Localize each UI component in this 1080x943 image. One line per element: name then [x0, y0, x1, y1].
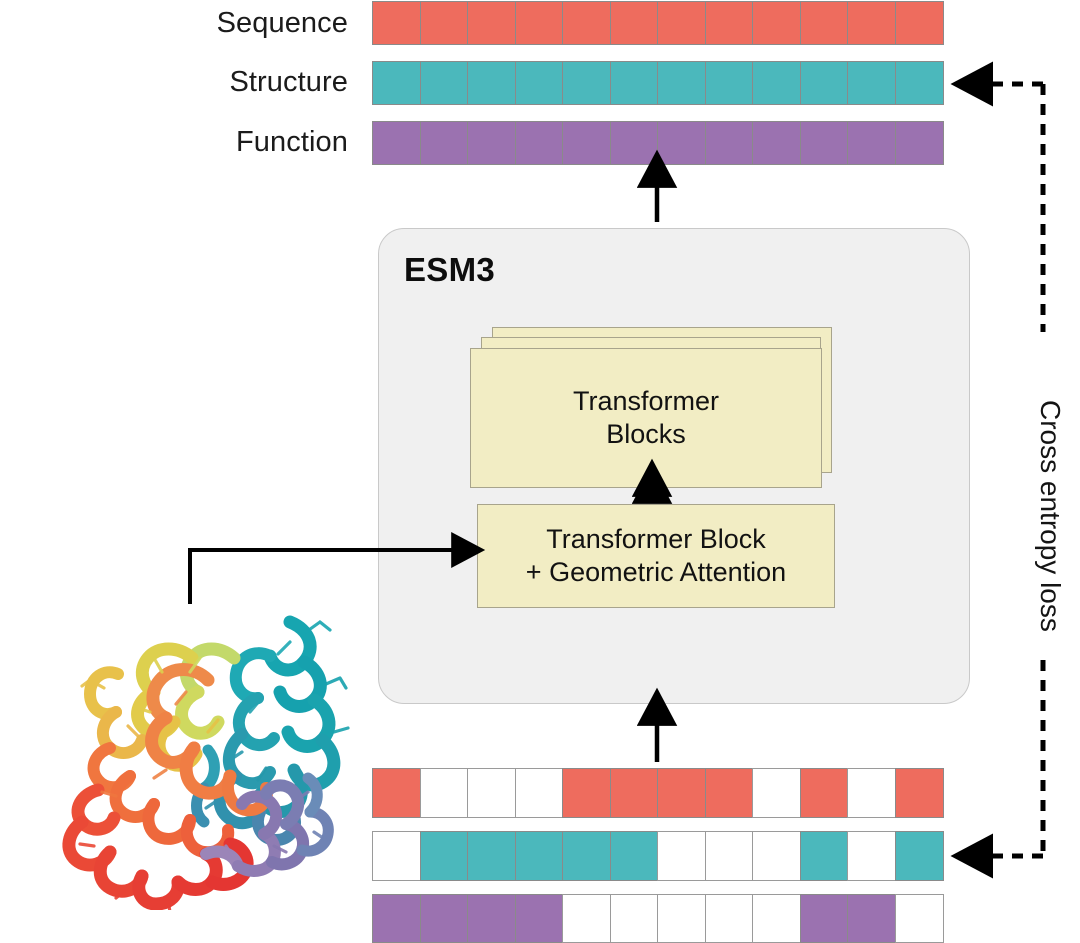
- output-token-function-cell-6: [657, 121, 706, 165]
- input-token-structure-cell-3: [515, 831, 564, 881]
- input-token-sequence-cell-2: [467, 768, 516, 818]
- output-track-sequence: [372, 1, 944, 45]
- output-token-sequence-cell-8: [752, 1, 801, 45]
- output-label-function: Function: [236, 128, 348, 157]
- output-token-structure-cell-3: [515, 61, 564, 105]
- output-label-structure-wrap: Structure: [0, 59, 348, 105]
- input-token-structure-cell-5: [610, 831, 659, 881]
- geometric-attention-label: Transformer Block + Geometric Attention: [478, 523, 834, 589]
- output-token-function-cell-5: [610, 121, 659, 165]
- output-track-structure: [372, 61, 944, 105]
- output-label-structure: Structure: [229, 68, 348, 97]
- output-token-structure-cell-4: [562, 61, 611, 105]
- input-token-structure-cell-7: [705, 831, 754, 881]
- output-token-function-cell-4: [562, 121, 611, 165]
- esm3-title: ESM3: [404, 251, 495, 289]
- output-token-sequence-cell-10: [847, 1, 896, 45]
- output-token-sequence-cell-2: [467, 1, 516, 45]
- output-token-sequence-cell-0: [372, 1, 421, 45]
- output-token-function-cell-11: [895, 121, 944, 165]
- output-token-structure-cell-6: [657, 61, 706, 105]
- output-label-function-wrap: Function: [0, 119, 348, 165]
- output-token-structure-cell-1: [420, 61, 469, 105]
- input-track-structure: [372, 831, 944, 881]
- input-token-structure-cell-0: [372, 831, 421, 881]
- transformer-blocks-line2: Blocks: [471, 418, 821, 451]
- output-token-structure-cell-7: [705, 61, 754, 105]
- output-token-function-cell-10: [847, 121, 896, 165]
- output-token-function-cell-9: [800, 121, 849, 165]
- output-track-function: [372, 121, 944, 165]
- output-token-function-cell-1: [420, 121, 469, 165]
- cross-entropy-loss-label: Cross entropy loss: [1036, 400, 1064, 700]
- output-token-sequence-cell-6: [657, 1, 706, 45]
- input-token-function-cell-4: [562, 894, 611, 943]
- geometric-attention-line1: Transformer Block: [478, 523, 834, 556]
- input-token-function-cell-10: [847, 894, 896, 943]
- input-token-function-cell-1: [420, 894, 469, 943]
- output-token-structure-cell-10: [847, 61, 896, 105]
- output-token-sequence-cell-7: [705, 1, 754, 45]
- output-token-function-cell-0: [372, 121, 421, 165]
- input-token-function-cell-0: [372, 894, 421, 943]
- input-token-function-cell-9: [800, 894, 849, 943]
- input-token-function-cell-11: [895, 894, 944, 943]
- output-token-structure-cell-11: [895, 61, 944, 105]
- input-token-sequence-cell-7: [705, 768, 754, 818]
- output-label-sequence: Sequence: [217, 9, 348, 38]
- input-token-sequence-cell-3: [515, 768, 564, 818]
- input-token-sequence-cell-1: [420, 768, 469, 818]
- input-token-structure-cell-9: [800, 831, 849, 881]
- input-token-structure-cell-2: [467, 831, 516, 881]
- output-token-sequence-cell-11: [895, 1, 944, 45]
- input-token-function-cell-2: [467, 894, 516, 943]
- transformer-blocks-line1: Transformer: [471, 385, 821, 418]
- input-token-sequence-cell-6: [657, 768, 706, 818]
- dashed-feedback-arrow-icon-top: [982, 84, 1043, 332]
- dashed-feedback-arrow-icon-bottom: [982, 660, 1043, 856]
- input-token-structure-cell-8: [752, 831, 801, 881]
- output-token-structure-cell-0: [372, 61, 421, 105]
- input-token-structure-cell-11: [895, 831, 944, 881]
- geometric-attention-line2: + Geometric Attention: [478, 556, 834, 589]
- output-token-function-cell-8: [752, 121, 801, 165]
- input-token-structure-cell-1: [420, 831, 469, 881]
- output-token-structure-cell-8: [752, 61, 801, 105]
- output-token-structure-cell-5: [610, 61, 659, 105]
- protein-ribbon-structure-icon: [58, 600, 358, 910]
- input-token-sequence-cell-8: [752, 768, 801, 818]
- input-token-sequence-cell-9: [800, 768, 849, 818]
- output-token-structure-cell-2: [467, 61, 516, 105]
- output-token-structure-cell-9: [800, 61, 849, 105]
- input-token-structure-cell-4: [562, 831, 611, 881]
- input-token-function-cell-7: [705, 894, 754, 943]
- diagram-canvas: Sequence Structure Function ESM3 Transfo…: [0, 0, 1080, 943]
- output-label-sequence-wrap: Sequence: [0, 0, 348, 46]
- input-token-sequence-cell-5: [610, 768, 659, 818]
- geometric-attention-card: Transformer Block + Geometric Attention: [477, 504, 835, 608]
- output-token-function-cell-3: [515, 121, 564, 165]
- output-token-sequence-cell-1: [420, 1, 469, 45]
- output-token-function-cell-2: [467, 121, 516, 165]
- input-token-structure-cell-6: [657, 831, 706, 881]
- input-token-sequence-cell-4: [562, 768, 611, 818]
- input-token-function-cell-6: [657, 894, 706, 943]
- output-token-sequence-cell-3: [515, 1, 564, 45]
- input-token-structure-cell-10: [847, 831, 896, 881]
- output-token-function-cell-7: [705, 121, 754, 165]
- output-token-sequence-cell-9: [800, 1, 849, 45]
- input-token-sequence-cell-0: [372, 768, 421, 818]
- input-token-sequence-cell-10: [847, 768, 896, 818]
- input-token-function-cell-5: [610, 894, 659, 943]
- transformer-blocks-card-front: Transformer Blocks: [470, 348, 822, 488]
- transformer-blocks-label: Transformer Blocks: [471, 385, 821, 451]
- output-token-sequence-cell-5: [610, 1, 659, 45]
- input-track-function: [372, 894, 944, 943]
- input-token-sequence-cell-11: [895, 768, 944, 818]
- output-token-sequence-cell-4: [562, 1, 611, 45]
- input-token-function-cell-3: [515, 894, 564, 943]
- input-track-sequence: [372, 768, 944, 818]
- input-token-function-cell-8: [752, 894, 801, 943]
